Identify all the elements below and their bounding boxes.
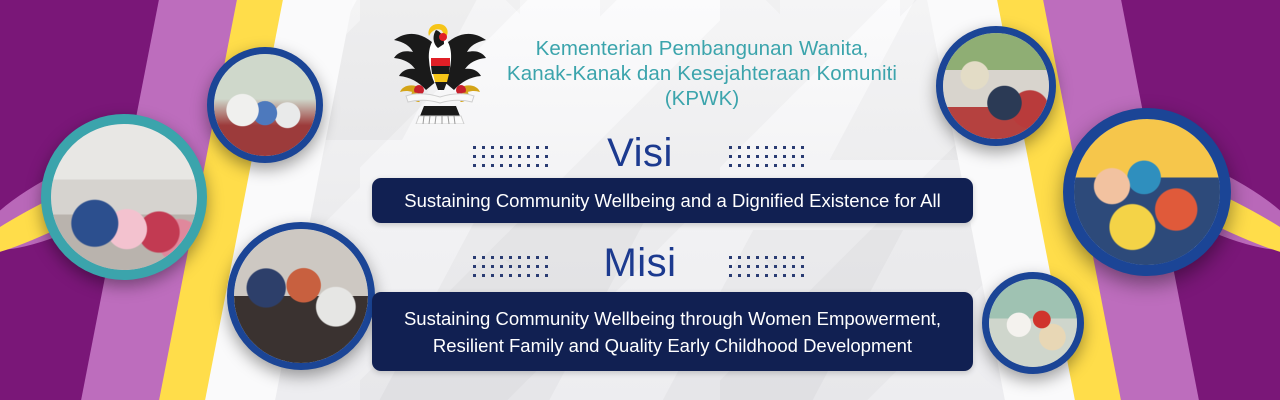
dot-grid-right-misi — [729, 250, 807, 276]
visi-heading-row: Visi — [0, 128, 1280, 178]
photo-right-bottom-image — [989, 279, 1077, 367]
kpwk-vision-mission-banner: Kementerian Pembangunan Wanita, Kanak-Ka… — [0, 0, 1280, 400]
dot-grid-right-visi — [729, 140, 807, 166]
misi-heading: Misi — [581, 238, 699, 288]
dot-grid-left-misi — [473, 250, 551, 276]
visi-statement-text: Sustaining Community Wellbeing and a Dig… — [404, 190, 940, 212]
ministry-title: Kementerian Pembangunan Wanita, Kanak-Ka… — [492, 36, 912, 111]
visi-statement-box: Sustaining Community Wellbeing and a Dig… — [372, 178, 973, 223]
misi-heading-row: Misi — [0, 238, 1280, 288]
misi-statement-text: Sustaining Community Wellbeing through W… — [404, 305, 941, 359]
visi-heading: Visi — [581, 128, 699, 178]
misi-statement-box: Sustaining Community Wellbeing through W… — [372, 292, 973, 371]
dot-grid-left-visi — [473, 140, 551, 166]
sarawak-coat-of-arms-icon — [386, 14, 494, 124]
photo-right-top-image — [943, 33, 1049, 139]
